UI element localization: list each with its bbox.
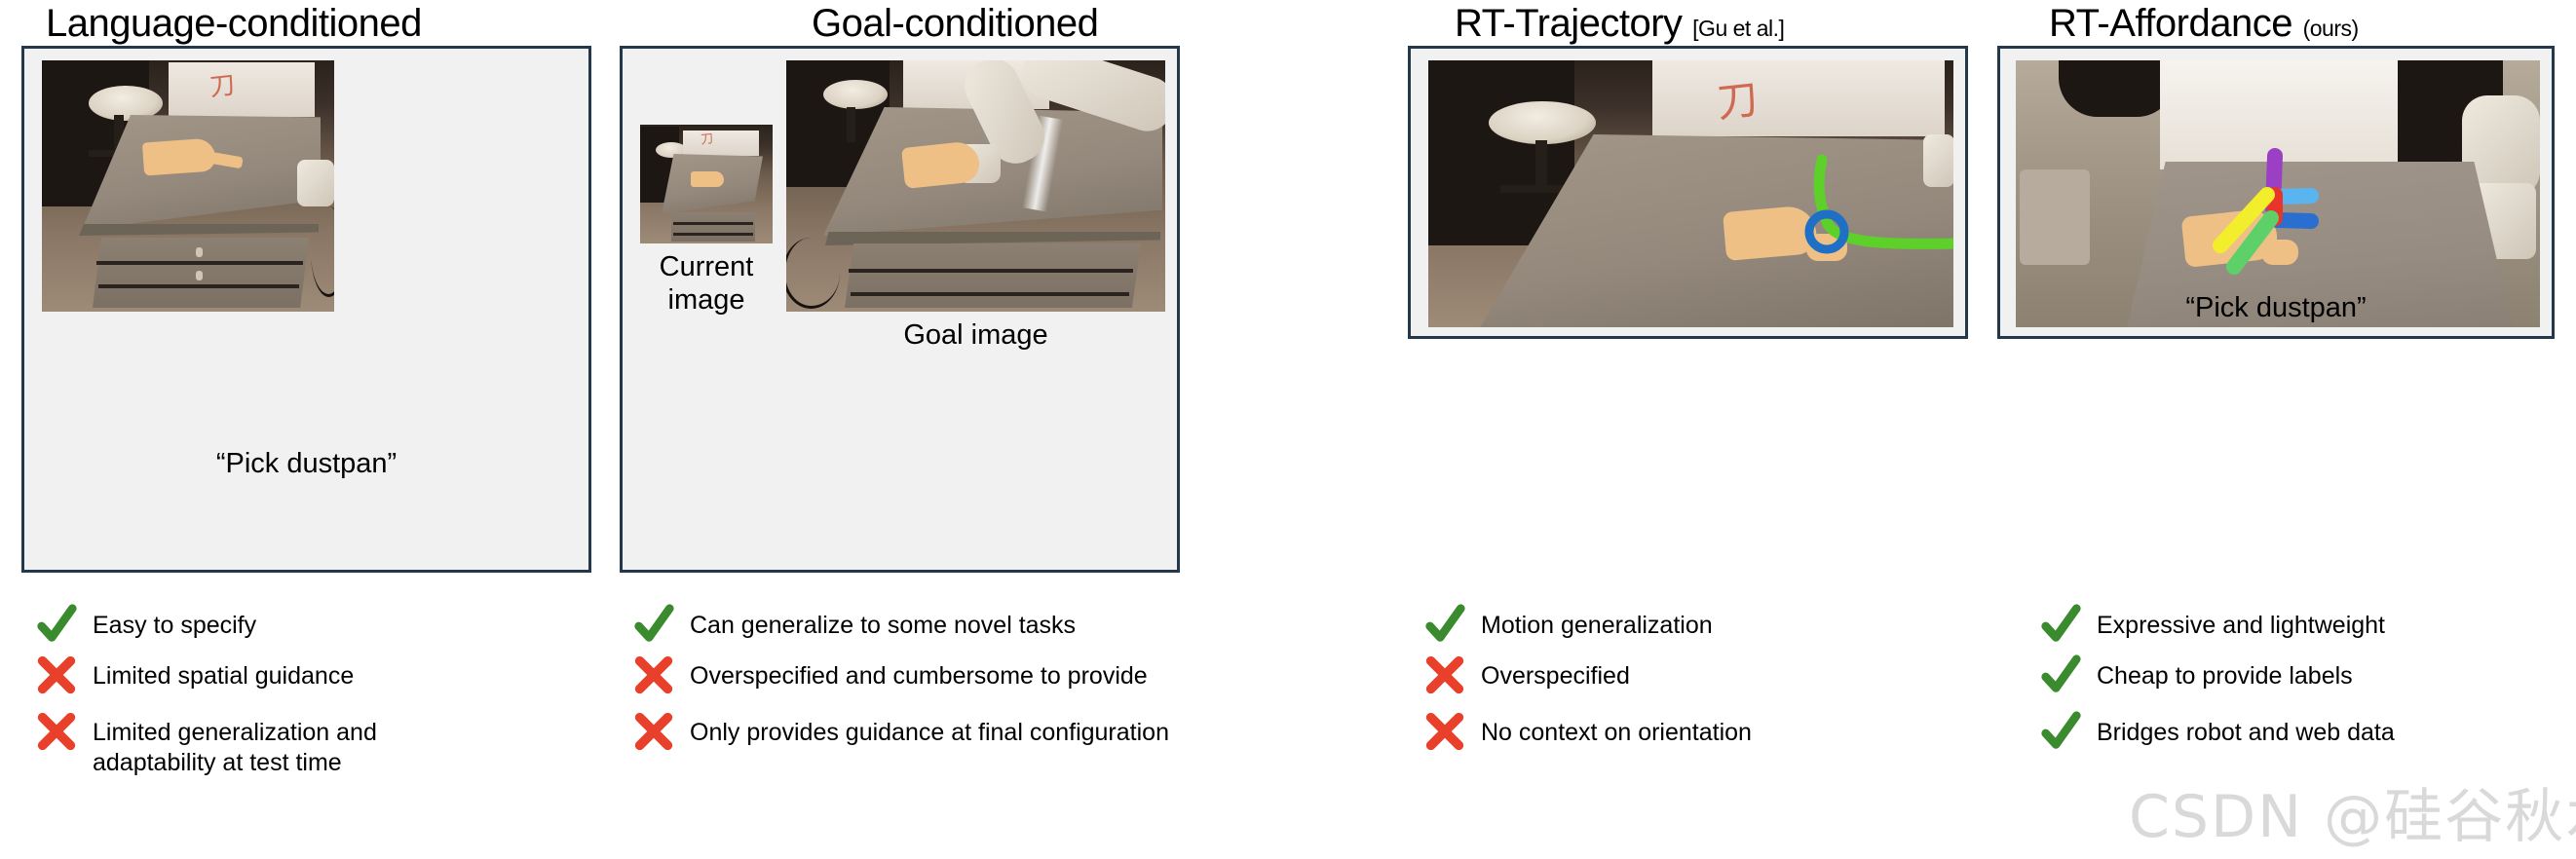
caption-language: “Pick dustpan” xyxy=(24,448,588,480)
cross-icon xyxy=(631,709,676,754)
bullet-row: Overspecified xyxy=(1422,653,1949,697)
bullet-text: Cheap to provide labels xyxy=(2097,653,2353,691)
check-icon xyxy=(631,602,676,647)
photo-scene-trajectory: 刀 xyxy=(1428,60,1953,327)
bullet-text: Limited generalization and adaptability … xyxy=(93,709,377,778)
photo-current-image: 刀 xyxy=(640,125,773,243)
label-goal-image: Goal image xyxy=(786,319,1165,352)
cross-icon xyxy=(1422,709,1467,754)
bullet-row: Limited spatial guidance xyxy=(34,653,580,697)
bullet-row: Motion generalization xyxy=(1422,602,1949,647)
bullet-text: Only provides guidance at final configur… xyxy=(690,709,1169,748)
cross-icon xyxy=(631,653,676,697)
column-title-text: RT-Trajectory xyxy=(1455,2,1683,45)
bullet-row: Bridges robot and web data xyxy=(2038,709,2564,754)
label-current-image: Current image xyxy=(640,251,773,317)
bullet-text: Expressive and lightweight xyxy=(2097,602,2385,641)
bullet-row: Easy to specify xyxy=(34,602,580,647)
column-title-suffix: [Gu et al.] xyxy=(1692,16,1784,41)
bullet-text: No context on orientation xyxy=(1481,709,1752,748)
bullet-row: No context on orientation xyxy=(1422,709,1949,754)
column-title-language: Language-conditioned xyxy=(46,4,422,43)
caption-affordance: “Pick dustpan” xyxy=(1997,292,2555,324)
cross-icon xyxy=(34,653,79,697)
column-title-rt-affordance: RT-Affordance (ours) xyxy=(2049,4,2359,43)
panel-language-conditioned: 刀 “Pick dustpan” xyxy=(21,46,591,573)
panel-goal-conditioned: 刀 Current image G xyxy=(620,46,1180,573)
photo-goal-image xyxy=(786,60,1165,312)
bullet-row: Only provides guidance at final configur… xyxy=(631,709,1235,754)
column-title-text: RT-Affordance xyxy=(2049,2,2292,45)
cross-icon xyxy=(1422,653,1467,697)
bullet-text: Motion generalization xyxy=(1481,602,1713,641)
column-title-text: Goal-conditioned xyxy=(812,2,1098,45)
bullet-row: Expressive and lightweight xyxy=(2038,602,2564,647)
bullet-text: Overspecified xyxy=(1481,653,1630,691)
panel-rt-trajectory: 刀 xyxy=(1408,46,1968,339)
bullet-row: Can generalize to some novel tasks xyxy=(631,602,1235,647)
check-icon xyxy=(2038,653,2083,697)
check-icon xyxy=(1422,602,1467,647)
column-title-text: Language-conditioned xyxy=(46,2,422,45)
bullet-text: Easy to specify xyxy=(93,602,256,641)
bullet-text: Can generalize to some novel tasks xyxy=(690,602,1076,641)
bullet-text: Limited spatial guidance xyxy=(93,653,354,691)
watermark: CSDN @硅谷秋水 xyxy=(2129,769,2576,854)
bullet-text: Bridges robot and web data xyxy=(2097,709,2395,748)
bullet-row: Overspecified and cumbersome to provide xyxy=(631,653,1235,697)
cross-icon xyxy=(34,709,79,754)
column-title-rt-trajectory: RT-Trajectory [Gu et al.] xyxy=(1455,4,1784,43)
check-icon xyxy=(34,602,79,647)
bullet-row: Cheap to provide labels xyxy=(2038,653,2564,697)
bullet-row: Limited generalization and adaptability … xyxy=(34,709,580,778)
check-icon xyxy=(2038,602,2083,647)
column-title-goal: Goal-conditioned xyxy=(812,4,1098,43)
photo-scene-language: 刀 xyxy=(42,60,334,312)
bullet-text: Overspecified and cumbersome to provide xyxy=(690,653,1148,691)
check-icon xyxy=(2038,709,2083,754)
figure-root: Language-conditioned Goal-conditioned RT… xyxy=(0,0,2576,859)
column-title-suffix: (ours) xyxy=(2303,16,2359,41)
